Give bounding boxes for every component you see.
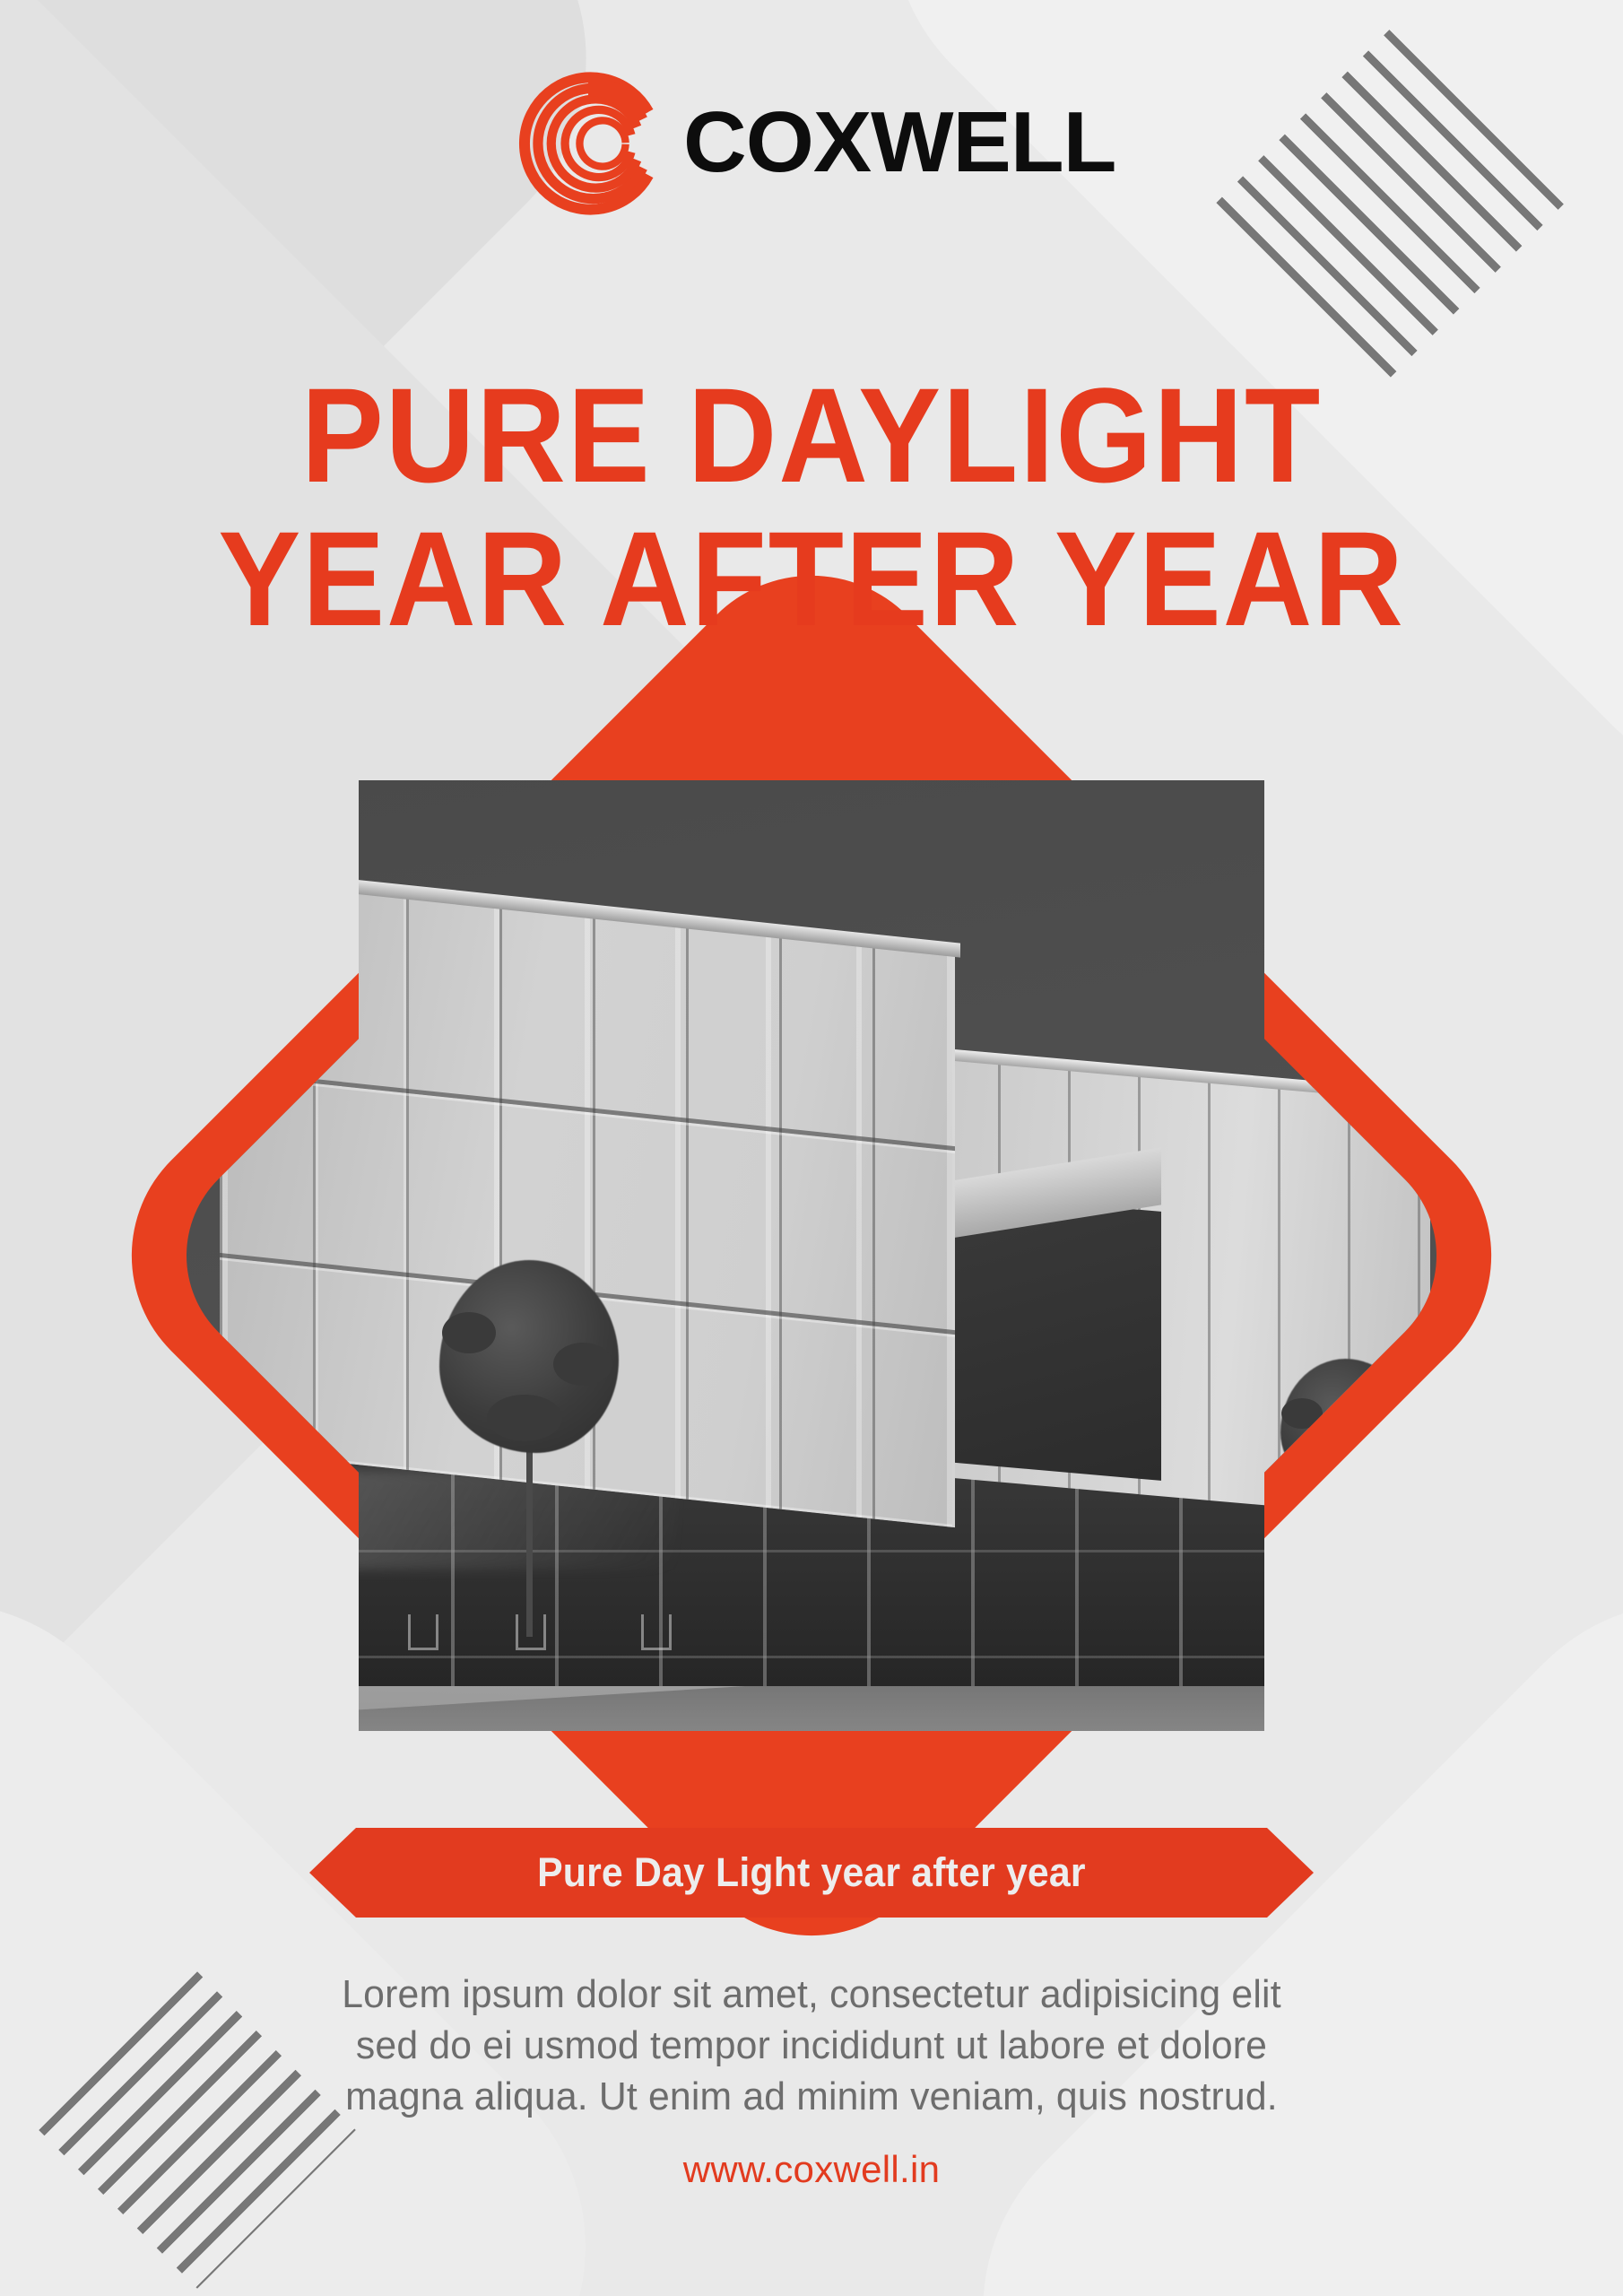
brand-logo: COXWELL	[0, 70, 1623, 215]
poster-canvas: COXWELL PURE DAYLIGHT YEAR AFTER YEAR	[0, 0, 1623, 2296]
body-line-1: Lorem ipsum dolor sit amet, consectetur …	[294, 1969, 1329, 2020]
body-paragraph: Lorem ipsum dolor sit amet, consectetur …	[278, 1969, 1345, 2123]
body-line-2: sed do ei usmod tempor incididunt ut lab…	[294, 2020, 1329, 2071]
brand-wordmark: COXWELL	[683, 100, 1115, 186]
tagline-ribbon: Pure Day Light year after year	[309, 1828, 1314, 1918]
headline-line-2: YEAR AFTER YEAR	[65, 511, 1558, 646]
body-line-3: magna aliqua. Ut enim ad minim veniam, q…	[294, 2071, 1329, 2122]
hero-photo-building-band	[359, 780, 1264, 1731]
hero-photo-rect-clip	[359, 753, 1264, 1758]
headline-line-1: PURE DAYLIGHT	[65, 368, 1558, 502]
coxwell-concentric-c-logo-icon	[516, 72, 660, 215]
tagline-ribbon-text: Pure Day Light year after year	[537, 1849, 1086, 1896]
page-title: PURE DAYLIGHT YEAR AFTER YEAR	[0, 368, 1623, 646]
hero-image-block	[0, 726, 1623, 1785]
website-url[interactable]: www.coxwell.in	[0, 2148, 1623, 2191]
